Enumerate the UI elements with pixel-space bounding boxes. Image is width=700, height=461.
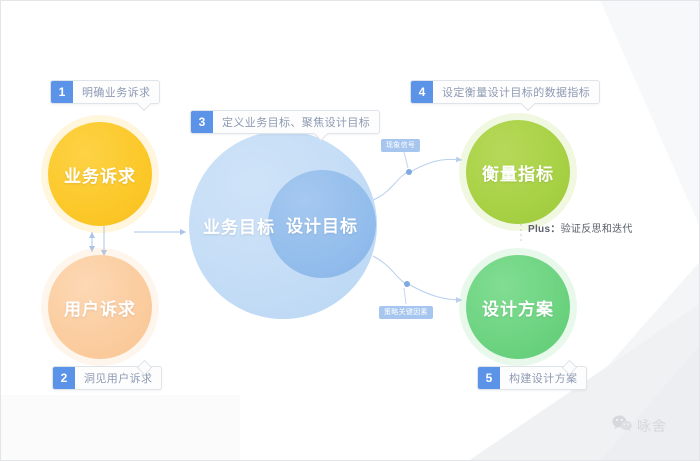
node-business-demand-label: 业务诉求 bbox=[64, 162, 136, 187]
node-design-goal[interactable]: 设计目标 bbox=[268, 170, 376, 278]
plus-note: Plus：验证反思和迭代 bbox=[528, 220, 633, 235]
connector-tag-key-factor: 策略关键因素 bbox=[379, 306, 433, 319]
node-user-demand-label: 用户诉求 bbox=[64, 295, 136, 320]
callout-step-3[interactable]: 3 定义业务目标、聚焦设计目标 bbox=[190, 110, 380, 134]
wechat-icon bbox=[612, 415, 632, 437]
callout-step-3-number: 3 bbox=[191, 111, 213, 133]
connector-tag-signal: 现象信号 bbox=[381, 139, 420, 152]
diagram-canvas: 业务诉求 用户诉求 业务目标 设计目标 衡量指标 设计方案 1 明确业务诉求 2… bbox=[0, 0, 700, 461]
callout-step-5-number: 5 bbox=[478, 367, 500, 389]
callout-step-5[interactable]: 5 构建设计方案 bbox=[477, 366, 587, 390]
node-design-goal-label: 设计目标 bbox=[286, 212, 358, 237]
callout-step-4[interactable]: 4 设定衡量设计目标的数据指标 bbox=[410, 80, 600, 104]
callout-step-3-label: 定义业务目标、聚焦设计目标 bbox=[213, 111, 379, 133]
plus-note-key: Plus： bbox=[528, 224, 561, 235]
node-metric[interactable]: 衡量指标 bbox=[466, 120, 570, 224]
background-facet-corner bbox=[600, 345, 700, 461]
callout-step-1-number: 1 bbox=[51, 81, 73, 103]
node-solution[interactable]: 设计方案 bbox=[466, 255, 570, 359]
callout-step-4-label: 设定衡量设计目标的数据指标 bbox=[433, 81, 599, 103]
background-facet-bottom-left bbox=[0, 395, 240, 461]
callout-step-2[interactable]: 2 洞见用户诉求 bbox=[52, 366, 162, 390]
node-business-goal-label: 业务目标 bbox=[203, 213, 275, 238]
node-user-demand[interactable]: 用户诉求 bbox=[48, 255, 152, 359]
node-business-demand[interactable]: 业务诉求 bbox=[48, 122, 152, 226]
callout-step-2-number: 2 bbox=[53, 367, 75, 389]
callout-step-1[interactable]: 1 明确业务诉求 bbox=[50, 80, 160, 104]
node-solution-label: 设计方案 bbox=[482, 295, 554, 320]
plus-note-text: 验证反思和迭代 bbox=[561, 224, 633, 235]
node-metric-label: 衡量指标 bbox=[482, 160, 554, 185]
watermark-text: 咏舍 bbox=[637, 416, 667, 436]
callout-step-4-number: 4 bbox=[411, 81, 433, 103]
background-facet-top-right bbox=[600, 0, 700, 250]
watermark: 咏舍 bbox=[612, 415, 667, 437]
